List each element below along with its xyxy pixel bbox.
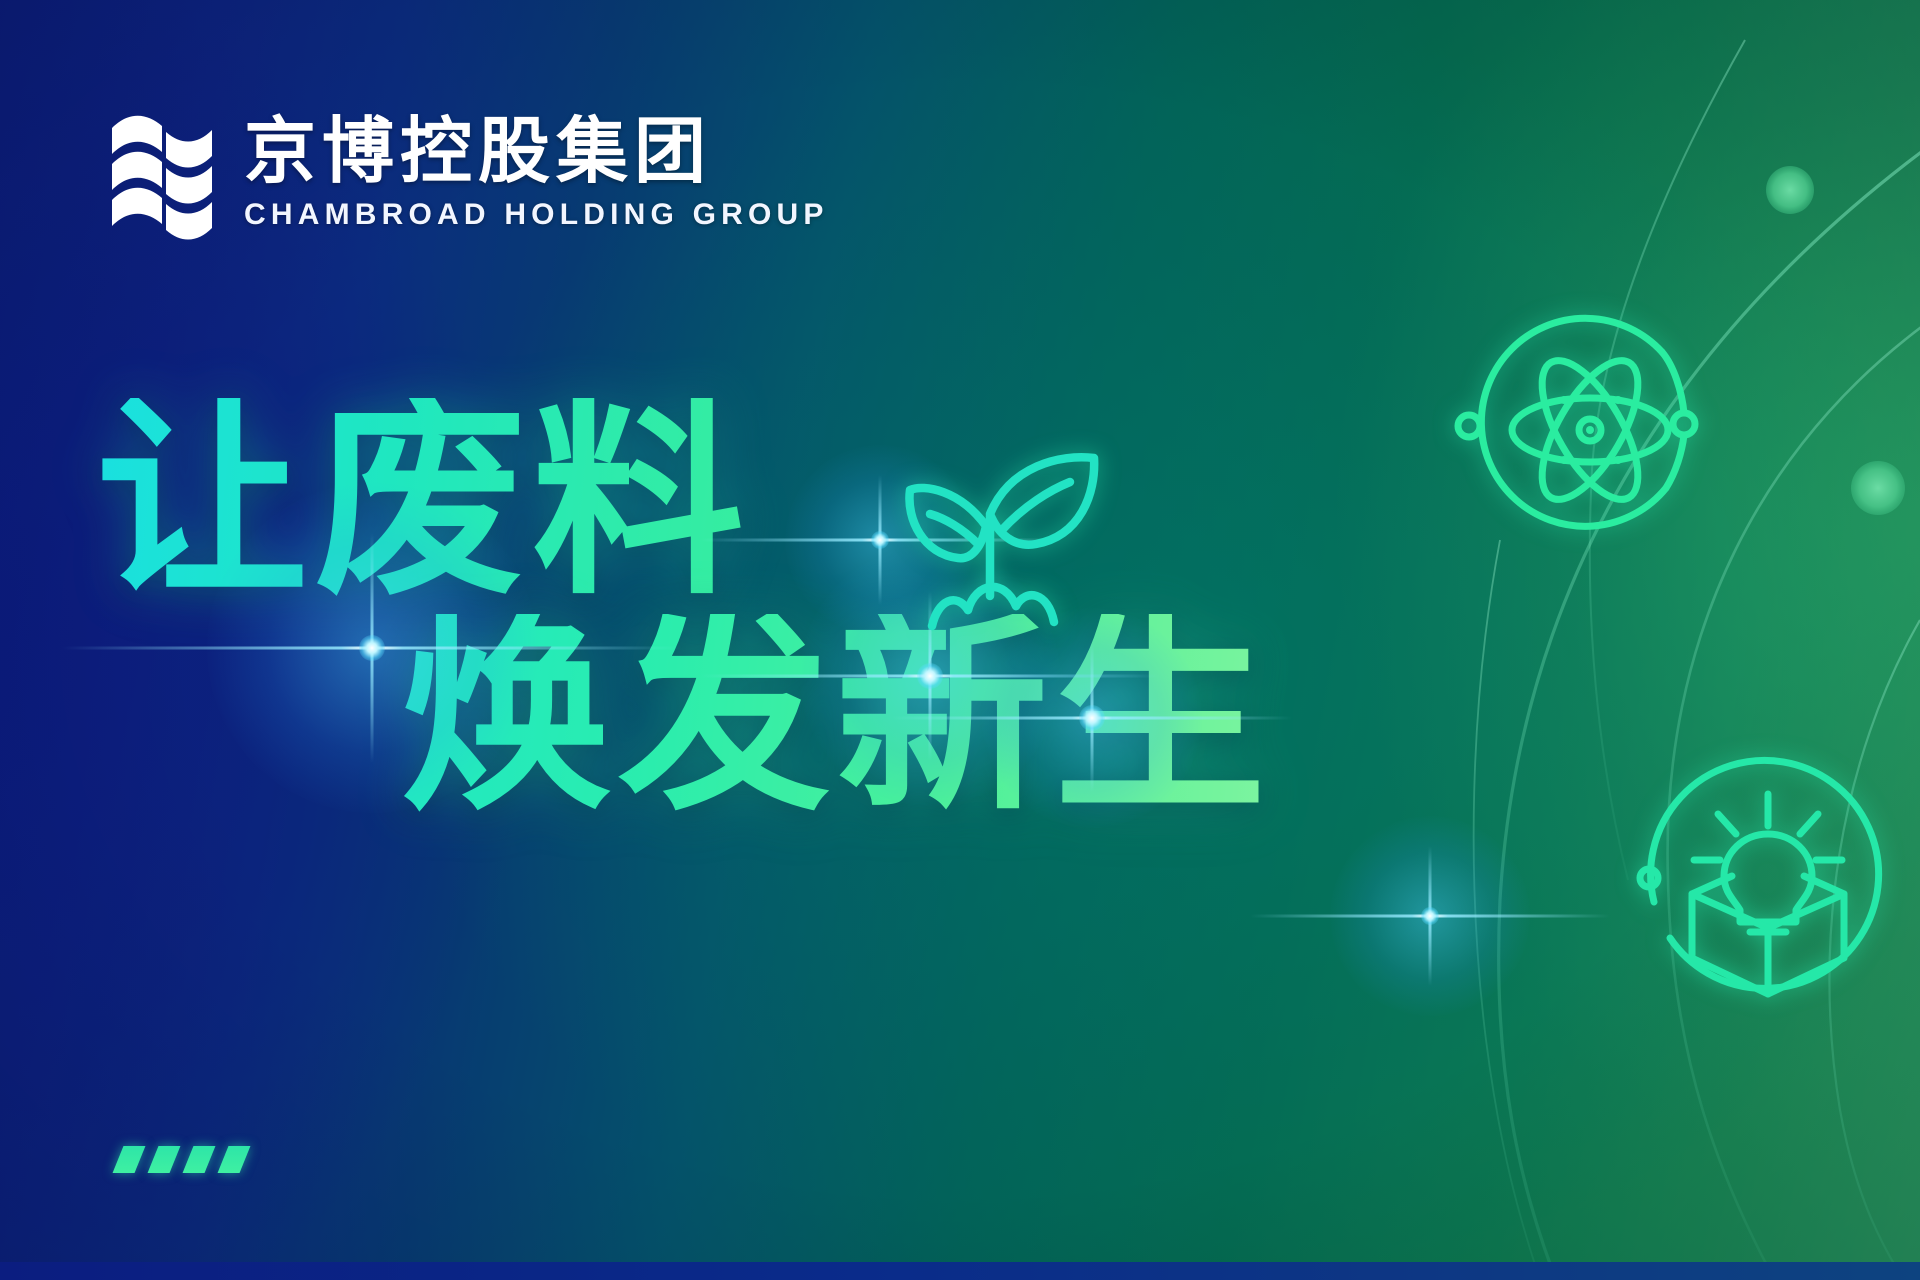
brand-logo: 京博控股集团 CHAMBROAD HOLDING GROUP — [108, 112, 829, 242]
bottom-strip — [0, 1262, 1920, 1280]
slash-marks — [118, 1146, 245, 1173]
logo-company-name-en: CHAMBROAD HOLDING GROUP — [244, 198, 829, 232]
chambroad-wave-mark-icon — [108, 112, 216, 242]
promo-banner: 京博控股集团 CHAMBROAD HOLDING GROUP 让废料 焕发新生 — [0, 0, 1920, 1280]
slash-mark — [113, 1146, 146, 1173]
atom-icon — [1452, 292, 1728, 568]
lightbulb-box-icon — [1632, 742, 1904, 1014]
logo-company-name-cn: 京博控股集团 — [244, 116, 829, 189]
slash-mark — [183, 1146, 216, 1173]
slash-mark — [148, 1146, 181, 1173]
sprout-icon — [898, 432, 1114, 648]
